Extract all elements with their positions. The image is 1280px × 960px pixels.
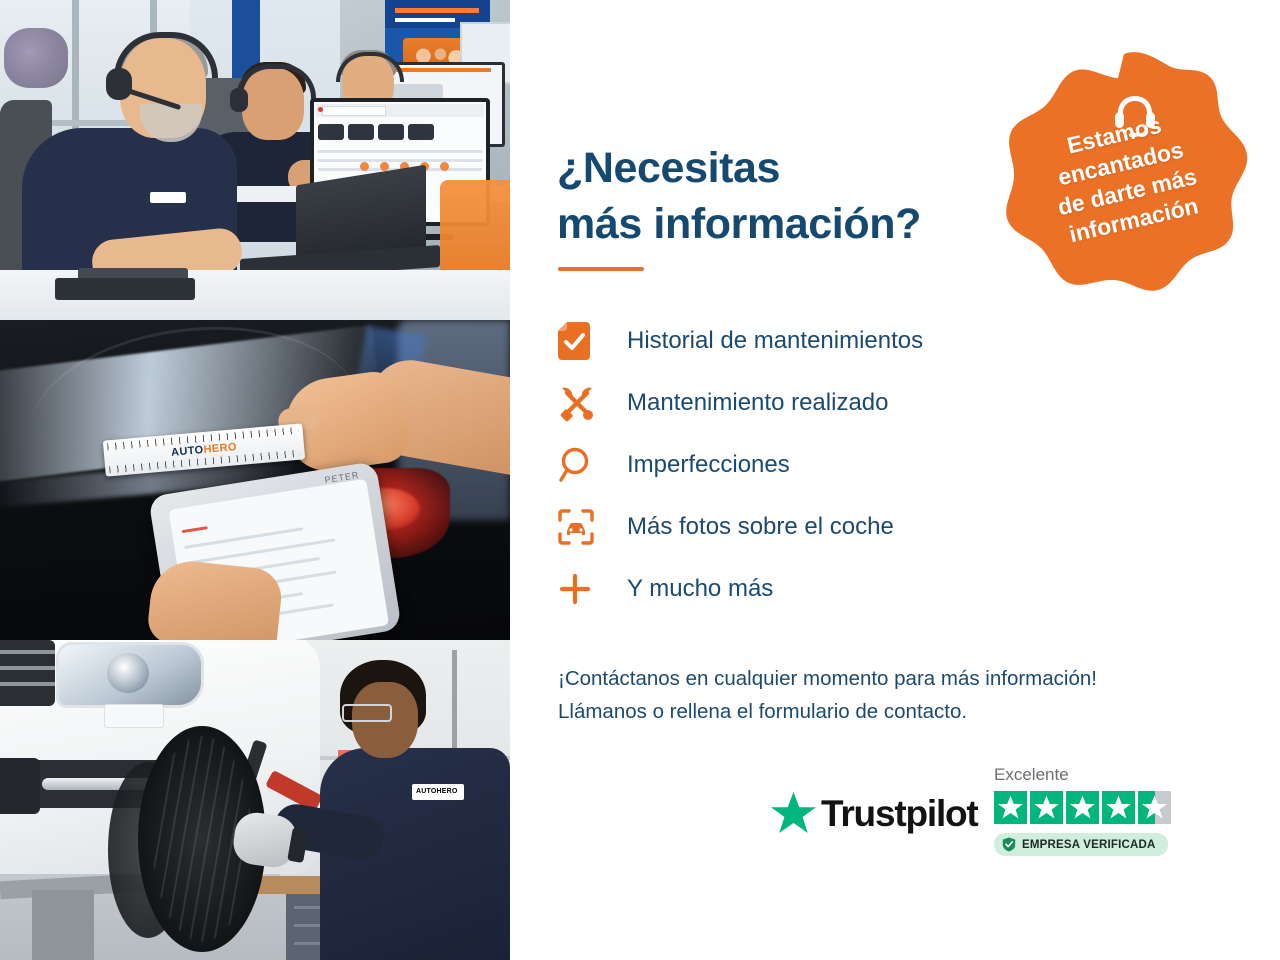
photo-car-inspection: AUTOHERO PETER <box>0 320 510 640</box>
feature-list: Historial de mantenimientos M <box>558 310 1078 620</box>
trustpilot-rating: Excelente <box>994 765 1171 857</box>
contact-text: ¡Contáctanos en cualquier momento para m… <box>558 662 1097 728</box>
title-divider <box>558 267 644 271</box>
feature-item: Y mucho más <box>558 558 1078 620</box>
trustpilot-star-icon <box>770 791 817 836</box>
promo-page: AUTOHERO PETER <box>0 0 1280 960</box>
star-3 <box>1066 791 1099 824</box>
feature-item: Más fotos sobre el coche <box>558 496 1078 558</box>
licence-plate-area <box>104 704 164 728</box>
star-4 <box>1102 791 1135 824</box>
feature-label: Y mucho más <box>627 575 773 603</box>
car-lift-post <box>32 890 94 960</box>
ruler-brand-suffix: HERO <box>203 441 237 456</box>
document-check-icon <box>558 321 602 361</box>
star-5-partial <box>1138 791 1171 824</box>
car-headlight <box>56 642 204 708</box>
feature-label: Más fotos sobre el coche <box>627 513 894 541</box>
star-rating <box>994 791 1171 824</box>
verified-label: EMPRESA VERIFICADA <box>1022 839 1156 851</box>
verified-badge: EMPRESA VERIFICADA <box>994 833 1168 856</box>
car-grille-upper <box>0 640 55 706</box>
technician: AUTOHERO <box>320 660 510 960</box>
shield-check-icon <box>1002 837 1016 852</box>
car-scan-icon <box>558 507 602 547</box>
technician-badge-text: AUTOHERO <box>416 788 458 795</box>
rating-label: Excelente <box>994 765 1171 785</box>
magnifier-icon <box>558 445 602 485</box>
plus-icon <box>558 569 602 609</box>
feature-item: Historial de mantenimientos <box>558 310 1078 372</box>
feature-label: Mantenimiento realizado <box>627 389 888 417</box>
photo-call-center-agents <box>0 0 510 320</box>
support-badge: Estamos encantados de darte más informac… <box>994 48 1254 310</box>
ruler-brand-prefix: AUTO <box>171 444 205 459</box>
page-title: ¿Necesitas más información? <box>557 141 921 253</box>
feature-item: Imperfecciones <box>558 434 1078 496</box>
inspector-hand-lower <box>146 557 284 640</box>
feature-item: Mantenimiento realizado <box>558 372 1078 434</box>
trustpilot-wordmark: Trustpilot <box>821 793 978 835</box>
trustpilot-block: Trustpilot Excelente <box>770 765 1200 885</box>
content-panel: ¿Necesitas más información? Estamos enca… <box>510 0 1280 960</box>
feature-label: Imperfecciones <box>627 451 790 479</box>
photo-workshop-technician: AUTOHERO <box>0 640 510 960</box>
desk-tablet <box>55 278 195 300</box>
star-1 <box>994 791 1027 824</box>
tools-icon <box>558 383 602 423</box>
trustpilot-logo: Trustpilot <box>770 791 978 836</box>
star-2 <box>1030 791 1063 824</box>
photo-column: AUTOHERO PETER <box>0 0 510 960</box>
feature-label: Historial de mantenimientos <box>627 327 923 355</box>
car-grille-lower <box>0 758 40 814</box>
agent-foreground <box>22 38 252 288</box>
